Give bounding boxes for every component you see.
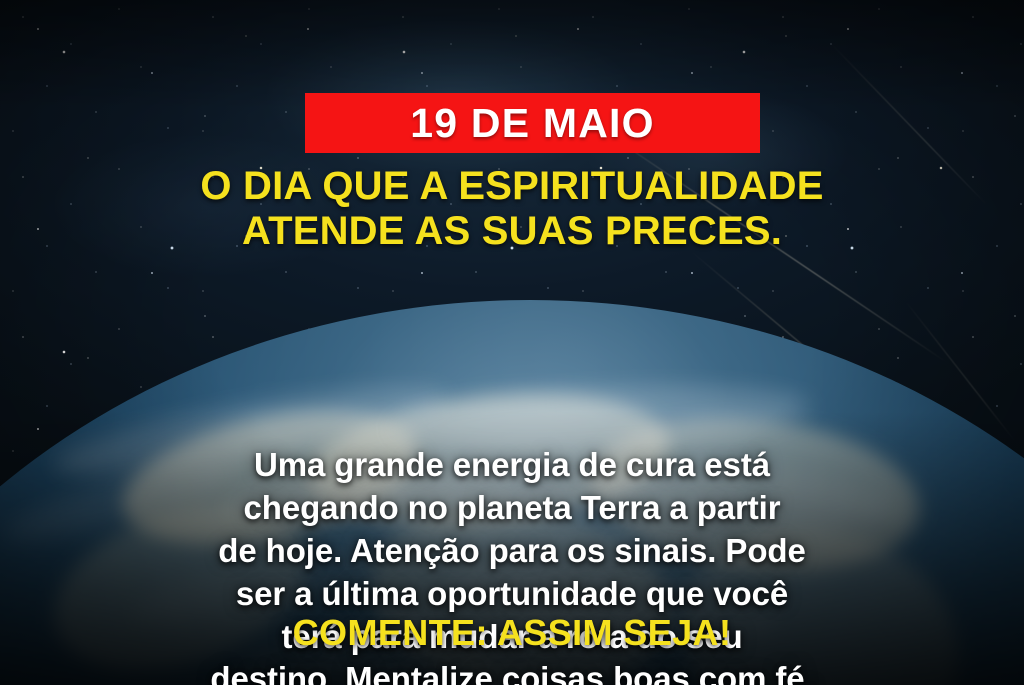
- date-banner-label: 19 DE MAIO: [410, 103, 654, 144]
- body-line-6: destino. Mentalize coisas boas com fé.: [40, 658, 984, 685]
- body-line-4: ser a última oportunidade que você: [40, 573, 984, 616]
- headline-line-1: O DIA QUE A ESPIRITUALIDADE: [36, 164, 988, 209]
- poster-content: 19 DE MAIO O DIA QUE A ESPIRITUALIDADE A…: [0, 0, 1024, 685]
- cta-label: COMENTE: ASSIM SEJA!: [293, 612, 732, 653]
- body-line-3: de hoje. Atenção para os sinais. Pode: [40, 530, 984, 573]
- headline-line-2: ATENDE AS SUAS PRECES.: [36, 209, 988, 254]
- call-to-action: COMENTE: ASSIM SEJA!: [0, 612, 1024, 654]
- headline: O DIA QUE A ESPIRITUALIDADE ATENDE AS SU…: [0, 164, 1024, 254]
- date-banner: 19 DE MAIO: [305, 93, 760, 153]
- body-line-1: Uma grande energia de cura está: [40, 444, 984, 487]
- body-line-2: chegando no planeta Terra a partir: [40, 487, 984, 530]
- social-media-poster: 19 DE MAIO O DIA QUE A ESPIRITUALIDADE A…: [0, 0, 1024, 685]
